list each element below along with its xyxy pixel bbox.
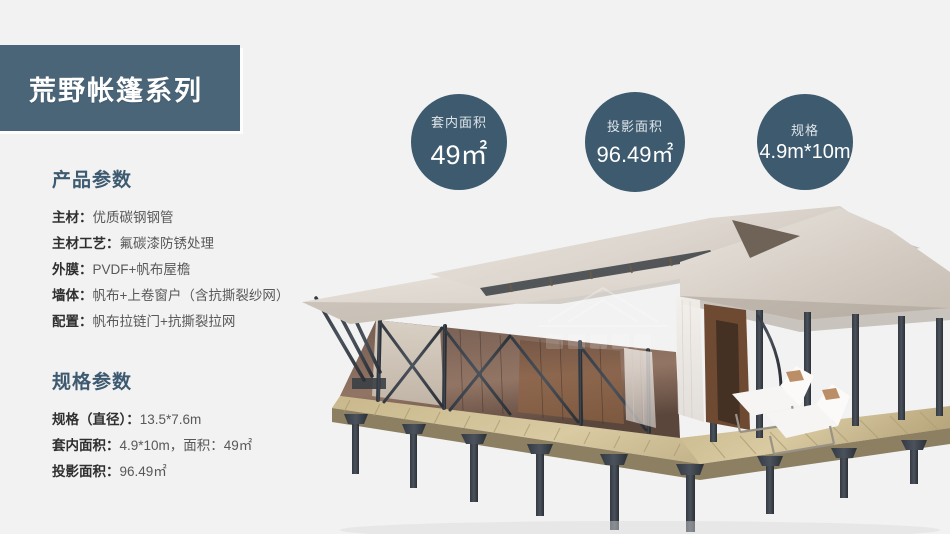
stat-badge-dimensions: 规格 4.9m*10m bbox=[757, 94, 853, 190]
tent-render-image bbox=[280, 200, 950, 534]
spec-value: PVDF+帆布屋檐 bbox=[93, 262, 191, 277]
stat-badge-label: 投影面积 bbox=[607, 116, 663, 135]
spec-label: 规格（直径）： bbox=[52, 412, 140, 427]
spec-label: 配置： bbox=[52, 314, 93, 329]
spec-label: 套内面积： bbox=[52, 438, 120, 453]
stat-badge-label: 规格 bbox=[791, 120, 819, 139]
slide-root: 荒野帐篷系列 产品参数 主材：优质碳钢钢管 主材工艺：氟碳漆防锈处理 外膜：PV… bbox=[0, 0, 950, 534]
spec-value: 13.5*7.6m bbox=[140, 412, 202, 427]
stat-badge-label: 套内面积 bbox=[431, 112, 487, 131]
stat-badge-interior-area: 套内面积 49㎡ bbox=[411, 94, 507, 190]
spec-value: 帆布拉链门+抗撕裂拉网 bbox=[93, 314, 236, 329]
product-params-heading: 产品参数 bbox=[52, 165, 352, 192]
page-title: 荒野帐篷系列 bbox=[29, 69, 203, 108]
spec-value: 氟碳漆防锈处理 bbox=[120, 236, 215, 251]
spec-value: 优质碳钢钢管 bbox=[93, 210, 174, 225]
stat-badge-value: 49㎡ bbox=[430, 133, 487, 172]
spec-label: 主材： bbox=[52, 210, 93, 225]
title-banner: 荒野帐篷系列 bbox=[0, 45, 240, 131]
stat-badge-projected-area: 投影面积 96.49㎡ bbox=[585, 92, 685, 192]
spec-value: 4.9*10m，面积：49㎡ bbox=[120, 438, 253, 453]
spec-value: 帆布+上卷窗户（含抗撕裂纱网） bbox=[93, 288, 290, 303]
spec-label: 主材工艺： bbox=[52, 236, 120, 251]
entry-doorway bbox=[704, 304, 750, 430]
spec-label: 外膜： bbox=[52, 262, 93, 277]
spec-label: 投影面积： bbox=[52, 464, 120, 479]
spec-value: 96.49㎡ bbox=[120, 464, 167, 479]
stat-badge-value: 4.9m*10m bbox=[759, 141, 850, 164]
stat-badge-value: 96.49㎡ bbox=[596, 137, 673, 169]
spec-label: 墙体： bbox=[52, 288, 93, 303]
